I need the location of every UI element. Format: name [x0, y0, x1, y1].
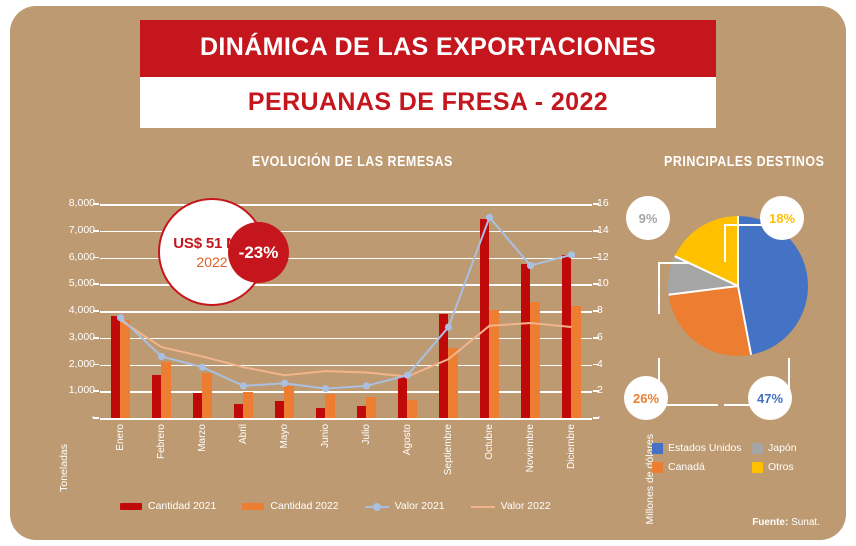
header-title-line2: PERUANAS DE FRESA - 2022 [248, 88, 608, 117]
legend-label: Valor 2022 [501, 500, 551, 512]
pie-value-bubble: 47% [748, 376, 792, 420]
legend-label: Cantidad 2022 [270, 500, 338, 512]
pie-value-bubble: 26% [624, 376, 668, 420]
pie-legend-swatch [752, 443, 763, 454]
x-axis-label: Agosto [402, 424, 413, 455]
evolucion-legend: Cantidad 2021Cantidad 2022Valor 2021Valo… [120, 500, 600, 512]
infographic-panel: DINÁMICA DE LAS EXPORTACIONES PERUANAS D… [10, 6, 846, 540]
source-value: Sunat. [791, 517, 820, 528]
pie-legend-swatch [752, 462, 763, 473]
x-axis-label: Noviembre [525, 424, 536, 472]
x-axis-label: Marzo [197, 424, 208, 452]
y-tick-right: 6 [597, 331, 637, 343]
line-marker [199, 364, 206, 371]
pie-legend-item: Estados Unidos [652, 442, 752, 454]
pie-legend-label: Estados Unidos [668, 442, 742, 454]
pie-legend-swatch [652, 462, 663, 473]
x-axis-label: Mayo [279, 424, 290, 448]
pie-leader-line [658, 262, 690, 264]
y-tick-left: 8,000 [49, 197, 95, 209]
gridline [100, 418, 592, 420]
line-marker [527, 262, 534, 269]
y-tick-right: 4 [597, 358, 637, 370]
y-tick-right: 10 [597, 277, 637, 289]
y-tick-left: 3,000 [49, 331, 95, 343]
section-title-evolucion: EVOLUCIÓN DE LAS REMESAS [252, 154, 453, 170]
tick-mark [593, 230, 599, 232]
tick-mark [593, 283, 599, 285]
y-tick-left: 2,000 [49, 358, 95, 370]
source-label: Fuente: [752, 517, 788, 528]
pie-leader-line [724, 224, 726, 262]
pie-legend-label: Canadá [668, 461, 705, 473]
y-tick-right: 12 [597, 251, 637, 263]
y-tick-left: 7,000 [49, 224, 95, 236]
header-band: PERUANAS DE FRESA - 2022 [140, 77, 716, 128]
legend-label: Cantidad 2021 [148, 500, 216, 512]
line-2022 [121, 320, 572, 376]
legend-item: Cantidad 2021 [120, 500, 216, 512]
line-marker [404, 372, 411, 379]
x-axis-label: Junio [320, 424, 331, 448]
line-marker [568, 251, 575, 258]
tick-mark [593, 257, 599, 259]
pie-value-bubble: 18% [760, 196, 804, 240]
legend-swatch [242, 503, 264, 510]
tick-mark [93, 310, 99, 312]
pie-legend-item: Otros [752, 461, 846, 473]
line-marker [445, 323, 452, 330]
x-axis-label: Enero [115, 424, 126, 451]
tick-mark [93, 257, 99, 259]
y-tick-left: 6,000 [49, 251, 95, 263]
pie-value-bubble: 9% [626, 196, 670, 240]
callout-year: 2022 [196, 254, 227, 270]
tick-mark [93, 283, 99, 285]
y-tick-left: 1,000 [49, 384, 95, 396]
x-axis-label: Julio [361, 424, 372, 445]
tick-mark [93, 203, 99, 205]
tick-mark [93, 390, 99, 392]
section-title-destinos: PRINCIPALES DESTINOS [664, 154, 824, 170]
x-axis-label: Diciembre [566, 424, 577, 469]
source-note: Fuente: Sunat. [752, 517, 820, 528]
y-tick-left: - [49, 411, 95, 423]
pie-legend-swatch [652, 443, 663, 454]
header-banner: DINÁMICA DE LAS EXPORTACIONES PERUANAS D… [140, 20, 716, 128]
pie-leader-line [658, 264, 660, 314]
legend-label: Valor 2021 [395, 500, 445, 512]
line-marker [322, 385, 329, 392]
header-title-line1: DINÁMICA DE LAS EXPORTACIONES [140, 20, 716, 74]
legend-item: Cantidad 2022 [242, 500, 338, 512]
tick-mark [593, 337, 599, 339]
pie-legend-item: Canadá [652, 461, 752, 473]
tick-mark [93, 337, 99, 339]
legend-swatch [120, 503, 142, 510]
evolucion-remesas-chart: Toneladas Millones de dólares --1,00022,… [32, 186, 612, 496]
y-axis-label-left: Toneladas [58, 444, 70, 492]
pie-legend-label: Otros [768, 461, 794, 473]
pie-legend-label: Japón [768, 442, 797, 454]
line-marker [281, 380, 288, 387]
tick-mark [93, 417, 99, 419]
line-marker [486, 214, 493, 221]
tick-mark [593, 390, 599, 392]
tick-mark [593, 203, 599, 205]
tick-mark [593, 310, 599, 312]
legend-swatch [365, 502, 389, 511]
tick-mark [593, 417, 599, 419]
x-axis-label: Octubre [484, 424, 495, 460]
pie-legend-item: Japón [752, 442, 846, 454]
x-axis-label: Abril [238, 424, 249, 444]
line-marker [240, 382, 247, 389]
infographic-root: DINÁMICA DE LAS EXPORTACIONES PERUANAS D… [0, 0, 856, 546]
x-axis-label: Febrero [156, 424, 167, 459]
pie-slice-divider [737, 216, 739, 286]
legend-item: Valor 2021 [365, 500, 445, 512]
tick-mark [93, 230, 99, 232]
line-marker [158, 353, 165, 360]
legend-item: Valor 2022 [471, 500, 551, 512]
y-tick-right: 8 [597, 304, 637, 316]
tick-mark [593, 364, 599, 366]
callout-variation: -23% [239, 243, 279, 263]
y-tick-left: 5,000 [49, 277, 95, 289]
x-axis-label: Septiembre [443, 424, 454, 475]
tick-mark [93, 364, 99, 366]
legend-swatch [471, 502, 495, 511]
line-marker [363, 382, 370, 389]
destinos-legend: Estados UnidosJapónCanadáOtros [652, 442, 846, 480]
line-marker [117, 314, 124, 321]
callout-variation-bubble: -23% [228, 222, 289, 283]
y-tick-left: 4,000 [49, 304, 95, 316]
